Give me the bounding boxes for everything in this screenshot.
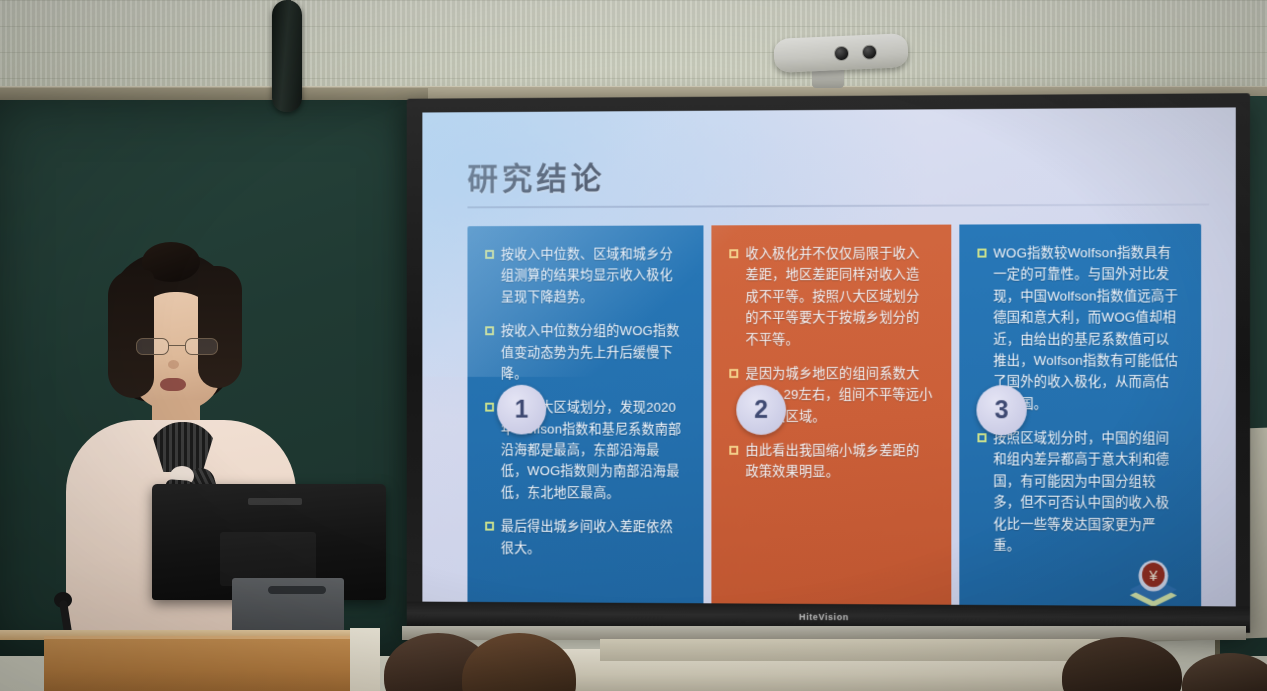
dual-lens-wall-camera-icon xyxy=(773,33,908,73)
nose xyxy=(168,360,179,369)
chalkboard-frame xyxy=(0,88,428,100)
bullet-square-icon xyxy=(977,249,986,258)
bullet-text: 由此看出我国缩小城乡差距的政策效果明显。 xyxy=(746,440,933,483)
svg-text:¥: ¥ xyxy=(1148,569,1158,585)
bullet-text: 最后得出城乡间收入差距依然很大。 xyxy=(501,516,686,559)
wooden-podium xyxy=(44,636,362,691)
bullet-item: 按收入中位数、区域和城乡分组测算的结果均显示收入极化呈现下降趋势。 xyxy=(485,243,686,307)
monitor-stand-grip xyxy=(268,586,326,594)
step-number-3: 3 xyxy=(976,385,1026,435)
bullet-text: 按收入中位数分组的WOG指数值变动态势为先上升后缓慢下降。 xyxy=(501,320,686,384)
classroom-scene: 研究结论 按收入中位数、区域和城乡分组测算的结果均显示收入极化呈现下降趋势。 按… xyxy=(0,0,1267,691)
presentation-slide: 研究结论 按收入中位数、区域和城乡分组测算的结果均显示收入极化呈现下降趋势。 按… xyxy=(422,107,1235,606)
camera-lens-right xyxy=(862,44,878,60)
hanging-microphone-icon xyxy=(272,0,302,112)
bullet-square-icon xyxy=(977,433,986,442)
step-number-2: 2 xyxy=(736,385,786,435)
bullet-item: 由此看出我国缩小城乡差距的政策效果明显。 xyxy=(730,440,933,483)
bullet-item: 按收入中位数分组的WOG指数值变动态势为先上升后缓慢下降。 xyxy=(485,320,686,384)
bullet-text: 收入极化并不仅仅局限于收入差距，地区差距同样对收入造成不平等。按照八大区域划分的… xyxy=(746,243,933,350)
monitor-logo xyxy=(248,498,302,505)
hair-front-right xyxy=(198,266,242,388)
lens-left xyxy=(136,338,169,355)
bullet-square-icon xyxy=(485,522,494,531)
bullet-square-icon xyxy=(485,403,494,412)
bullet-item: 按照区域划分时，中国的组间和组内差异都高于意大利和德国，有可能因为中国分组较多，… xyxy=(977,427,1183,557)
slide-title: 研究结论 xyxy=(467,150,1201,198)
bullet-text: 按照区域划分时，中国的组间和组内差异都高于意大利和德国，有可能因为中国分组较多，… xyxy=(993,427,1183,557)
bullet-text: WOG指数较Wolfson指数具有一定的可靠性。与国外对比发现，中国Wolfso… xyxy=(993,242,1183,415)
bullet-square-icon xyxy=(730,446,739,455)
bullet-square-icon xyxy=(730,369,739,378)
glasses-bridge xyxy=(169,345,185,346)
camera-lens-left xyxy=(834,46,850,62)
front-desk-upper xyxy=(600,639,1100,661)
bullet-item: 最后得出城乡间收入差距依然很大。 xyxy=(485,516,686,559)
scarf-collar xyxy=(148,422,218,472)
yen-coin-icon: ¥ xyxy=(1124,550,1183,606)
bullet-text: 按收入中位数、区域和城乡分组测算的结果均显示收入极化呈现下降趋势。 xyxy=(501,243,686,307)
bullet-square-icon xyxy=(485,250,494,259)
interactive-flat-panel-display[interactable]: 研究结论 按收入中位数、区域和城乡分组测算的结果均显示收入极化呈现下降趋势。 按… xyxy=(407,93,1250,633)
step-number-1: 1 xyxy=(497,385,546,435)
title-underline xyxy=(467,203,1209,208)
bullet-square-icon xyxy=(730,249,739,258)
display-screen[interactable]: 研究结论 按收入中位数、区域和城乡分组测算的结果均显示收入极化呈现下降趋势。 按… xyxy=(422,107,1235,606)
panels-container: 按收入中位数、区域和城乡分组测算的结果均显示收入极化呈现下降趋势。 按收入中位数… xyxy=(467,224,1201,607)
bullet-square-icon xyxy=(485,326,494,335)
podium-side-panel xyxy=(350,628,380,691)
display-brand-label: HiteVision xyxy=(799,612,849,622)
bullet-item: 收入极化并不仅仅局限于收入差距，地区差距同样对收入造成不平等。按照八大区域划分的… xyxy=(730,243,933,350)
mouth xyxy=(160,378,186,391)
lens-right xyxy=(185,338,218,355)
hair-front-left xyxy=(108,270,154,398)
eyeglasses-icon xyxy=(136,338,218,355)
